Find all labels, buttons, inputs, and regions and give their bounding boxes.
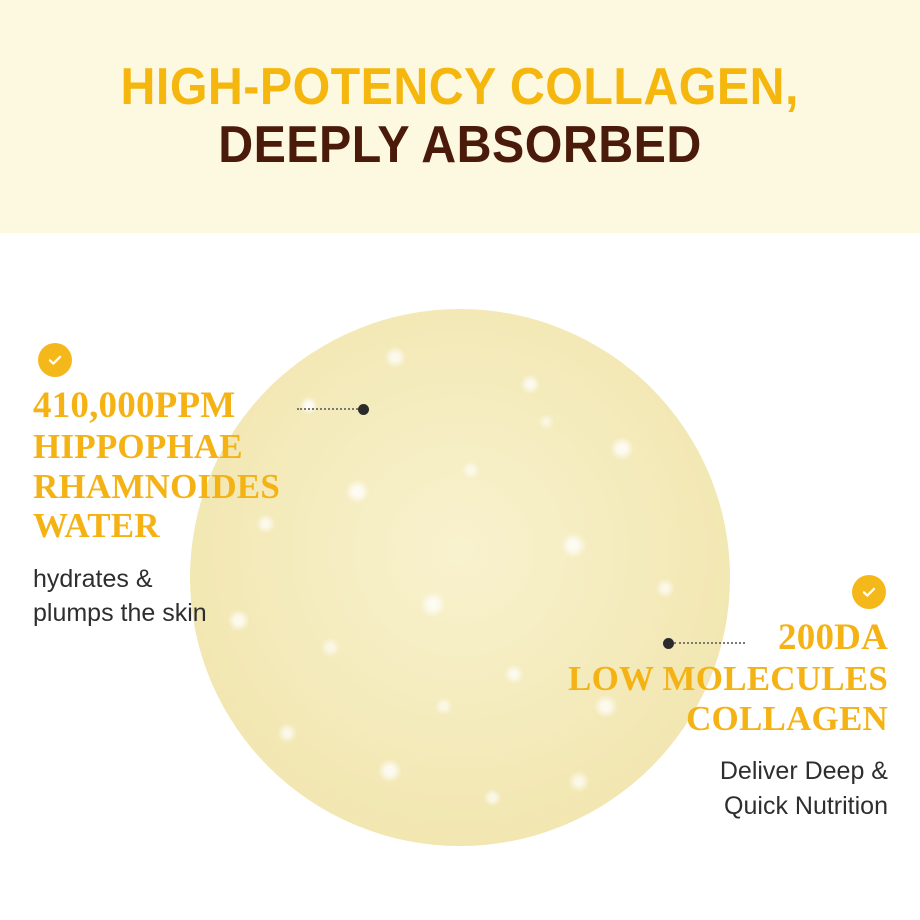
- callout-left-amount: 410,000PPM: [33, 386, 333, 425]
- callout-right-desc-line-1: Deliver Deep &: [538, 754, 888, 789]
- callout-left-name-line-3: WATER: [33, 506, 333, 546]
- header-banner: HIGH-POTENCY COLLAGEN, DEEPLY ABSORBED: [0, 0, 920, 233]
- check-icon: [46, 351, 64, 369]
- callout-left-desc-line-2: plumps the skin: [33, 596, 333, 631]
- callout-right: 200DA LOW MOLECULES COLLAGEN Deliver Dee…: [538, 618, 888, 823]
- callout-left: 410,000PPM HIPPOPHAE RHAMNOIDES WATER hy…: [33, 386, 333, 631]
- callout-right-desc-line-2: Quick Nutrition: [538, 789, 888, 824]
- check-badge-right: [852, 575, 886, 609]
- product-benefit-poster: HIGH-POTENCY COLLAGEN, DEEPLY ABSORBED 4…: [0, 0, 920, 920]
- callout-left-name: HIPPOPHAE RHAMNOIDES WATER: [33, 427, 333, 546]
- callout-right-description: Deliver Deep & Quick Nutrition: [538, 754, 888, 823]
- headline-primary: HIGH-POTENCY COLLAGEN,: [121, 61, 799, 114]
- callout-left-name-line-1: HIPPOPHAE: [33, 427, 333, 467]
- headline-secondary: DEEPLY ABSORBED: [218, 119, 702, 172]
- callout-left-name-line-2: RHAMNOIDES: [33, 467, 333, 507]
- callout-right-name-line-1: LOW MOLECULES: [538, 659, 888, 699]
- check-icon: [860, 583, 878, 601]
- callout-right-amount: 200DA: [538, 618, 888, 657]
- callout-left-desc-line-1: hydrates &: [33, 562, 333, 597]
- callout-left-description: hydrates & plumps the skin: [33, 562, 333, 631]
- callout-right-name-line-2: COLLAGEN: [538, 699, 888, 739]
- callout-right-name: LOW MOLECULES COLLAGEN: [538, 659, 888, 738]
- leader-dot-left: [358, 404, 369, 415]
- check-badge-left: [38, 343, 72, 377]
